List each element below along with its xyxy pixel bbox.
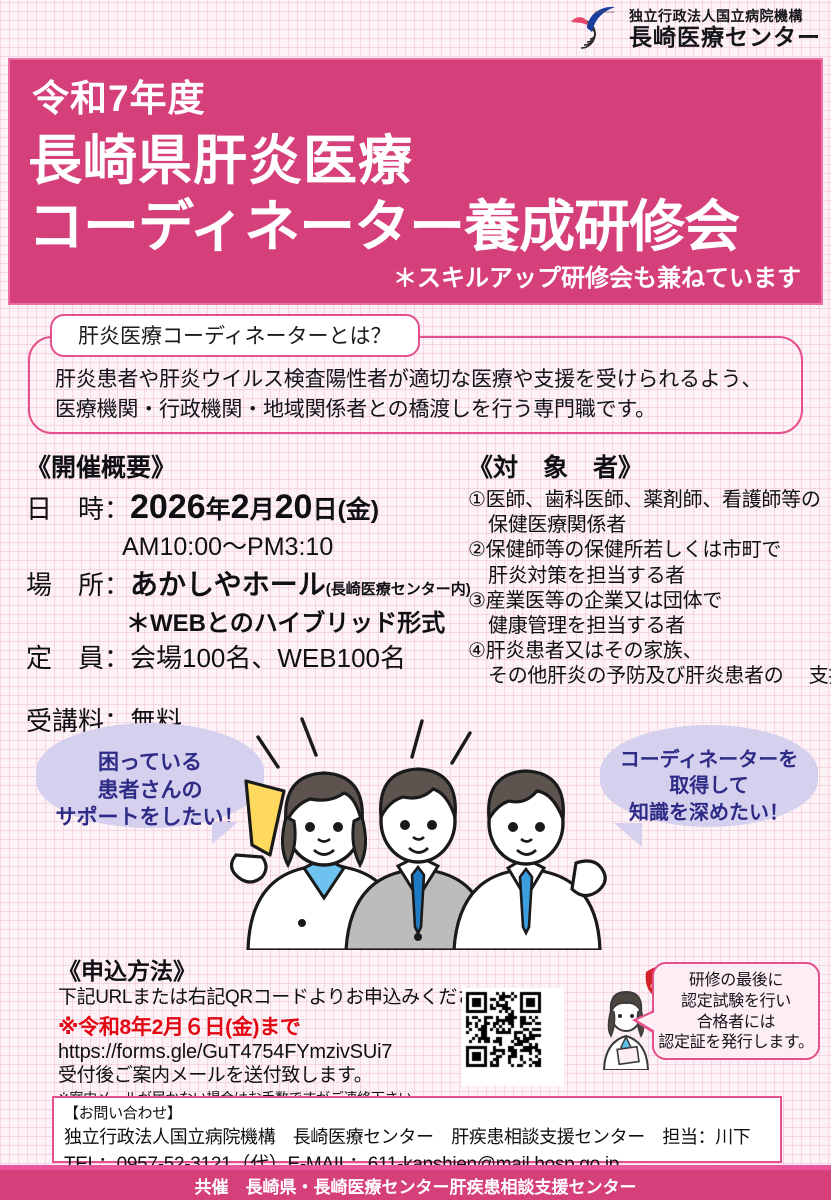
overview-date-value: 2026年2月20日(金) (130, 488, 379, 527)
nagasaki-medical-center-swirl-logo: NHO NAGASAKI (565, 4, 621, 54)
illustration-zone: 困っている 患者さんの サポートをしたい！ コーディネーターを 取得して 知識を… (0, 705, 831, 950)
logo-center-line: 長崎医療センター (629, 26, 821, 49)
target-section: 《対 象 者》 ①医師、歯科医師、薬剤師、看護師等の 保健医療関係者 ②保健師等… (468, 448, 826, 690)
target-item-line: その他肝炎の予防及び肝炎患者の (468, 664, 784, 689)
application-url[interactable]: https://forms.gle/GuT4754FYmzivSUi7 (58, 1041, 458, 1064)
title-line-2: コーディネーター養成研修会 (28, 182, 739, 263)
title-year: 令和7年度 (32, 68, 206, 122)
contact-org-line: 独立行政法人国立病院機構 長崎医療センター 肝疾患相談支援センター 担当：川下 (64, 1123, 770, 1149)
target-item-line: 肝炎対策を担当する者 (468, 564, 685, 589)
overview-place-name: あかしやホール (130, 569, 326, 600)
target-item-line: ③産業医等の企業又は団体で (468, 589, 826, 614)
definition-body-line-2: 医療機関・行政機関・地域関係者との橋渡しを行う専門職です。 (55, 395, 795, 425)
certificate-line: 認定試験を行い (654, 992, 818, 1013)
male-in-shirt-and-tie (454, 771, 605, 950)
target-item: ②保健師等の保健所若しくは市町で 肝炎対策を担当する者 (468, 538, 826, 588)
certificate-line: 合格者には (654, 1013, 818, 1034)
overview-date-month-unit: 月 (250, 496, 275, 524)
overview-hybrid-note: ＊WEBとのハイブリッド形式 (126, 603, 456, 638)
application-deadline: ※令和8年2月６日(金)まで (58, 1011, 458, 1041)
certificate-line: 認定証を発行します。 (654, 1033, 818, 1054)
definition-body: 肝炎患者や肝炎ウイルス検査陽性者が適切な医療や支援を受けられるよう、 医療機関・… (55, 365, 795, 425)
certificate-line: 研修の最後に (654, 971, 818, 992)
overview-date-day-unit: 日(金) (312, 496, 379, 524)
definition-body-line-1: 肝炎患者や肝炎ウイルス検査陽性者が適切な医療や支援を受けられるよう、 (55, 365, 795, 395)
overview-place-row: 場 所： あかしやホール(長崎医療センター内) (26, 563, 456, 603)
certificate-info-bubble: 研修の最後に 認定試験を行い 合格者には 認定証を発行します。 (652, 962, 820, 1060)
target-item-line: 支援の推進に意欲を有する者 (789, 664, 831, 689)
overview-heading: 《開催概要》 (26, 448, 456, 484)
target-item-line: 保健医療関係者 (468, 513, 626, 538)
application-heading: 《申込方法》 (58, 952, 458, 986)
overview-capacity-row: 定 員： 会場100名、WEB100名 (26, 638, 456, 675)
target-item-line: ①医師、歯科医師、薬剤師、看護師等の (468, 488, 826, 513)
target-item-line: ④肝炎患者又はその家族、 (468, 639, 826, 664)
overview-date-day: 20 (275, 488, 313, 526)
application-after-note: 受付後ご案内メールを送付致します。 (58, 1064, 458, 1089)
organization-logo: NHO NAGASAKI 独立行政法人国立病院機構 長崎医療センター (565, 4, 821, 54)
overview-time: AM10:00〜PM3:10 (122, 527, 456, 563)
target-item: ①医師、歯科医師、薬剤師、看護師等の 保健医療関係者 (468, 488, 826, 538)
target-item-line: ②保健師等の保健所若しくは市町で (468, 538, 826, 563)
overview-capacity-value: 会場100名、WEB100名 (130, 638, 406, 675)
target-item: ③産業医等の企業又は団体で 健康管理を担当する者 (468, 589, 826, 639)
overview-place-value: あかしやホール(長崎医療センター内) (130, 563, 471, 603)
svg-text:NHO NAGASAKI: NHO NAGASAKI (595, 10, 615, 14)
contact-heading: 【お問い合わせ】 (64, 1102, 770, 1123)
target-heading: 《対 象 者》 (468, 448, 826, 484)
overview-place-label: 場 所： (26, 565, 130, 602)
overview-date-year-unit: 年 (206, 496, 231, 524)
overview-date-row: 日 時： 2026年2月20日(金) (26, 488, 456, 527)
overview-date-label: 日 時： (26, 489, 130, 526)
application-qr-code[interactable] (462, 988, 564, 1086)
title-band: 令和7年度 長崎県肝炎医療 コーディネーター養成研修会 ＊スキルアップ研修会も兼… (8, 58, 823, 305)
overview-place-paren: (長崎医療センター内) (326, 581, 471, 598)
target-item: ④肝炎患者又はその家族、 その他肝炎の予防及び肝炎患者の 支援の推進に意欲を有す… (468, 639, 826, 689)
poster-root: NHO NAGASAKI 独立行政法人国立病院機構 長崎医療センター 令和7年度… (0, 0, 831, 1200)
overview-date-month: 2 (231, 488, 250, 526)
application-instruction: 下記URLまたは右記QRコードよりお申込みください。 (58, 986, 458, 1011)
definition-tab-label: 肝炎医療コーディネーターとは？ (50, 314, 420, 357)
yellow-pennant-flag (246, 781, 284, 855)
overview-date-year: 2026 (130, 488, 206, 526)
overview-section: 《開催概要》 日 時： 2026年2月20日(金) AM10:00〜PM3:10… (26, 448, 456, 738)
contact-box: 【お問い合わせ】 独立行政法人国立病院機構 長崎医療センター 肝疾患相談支援セン… (52, 1096, 782, 1163)
overview-capacity-label: 定 員： (26, 638, 130, 675)
logo-org-line: 独立行政法人国立病院機構 (629, 9, 803, 23)
title-subtitle: ＊スキルアップ研修会も兼ねています (393, 258, 801, 293)
footer-band: 共催 長崎県・長崎医療センター肝疾患相談支援センター (0, 1170, 831, 1200)
application-section: 《申込方法》 下記URLまたは右記QRコードよりお申込みください。 ※令和8年2… (58, 952, 458, 1108)
target-item-line: 健康管理を担当する者 (468, 614, 685, 639)
three-people-illustration (230, 705, 650, 950)
